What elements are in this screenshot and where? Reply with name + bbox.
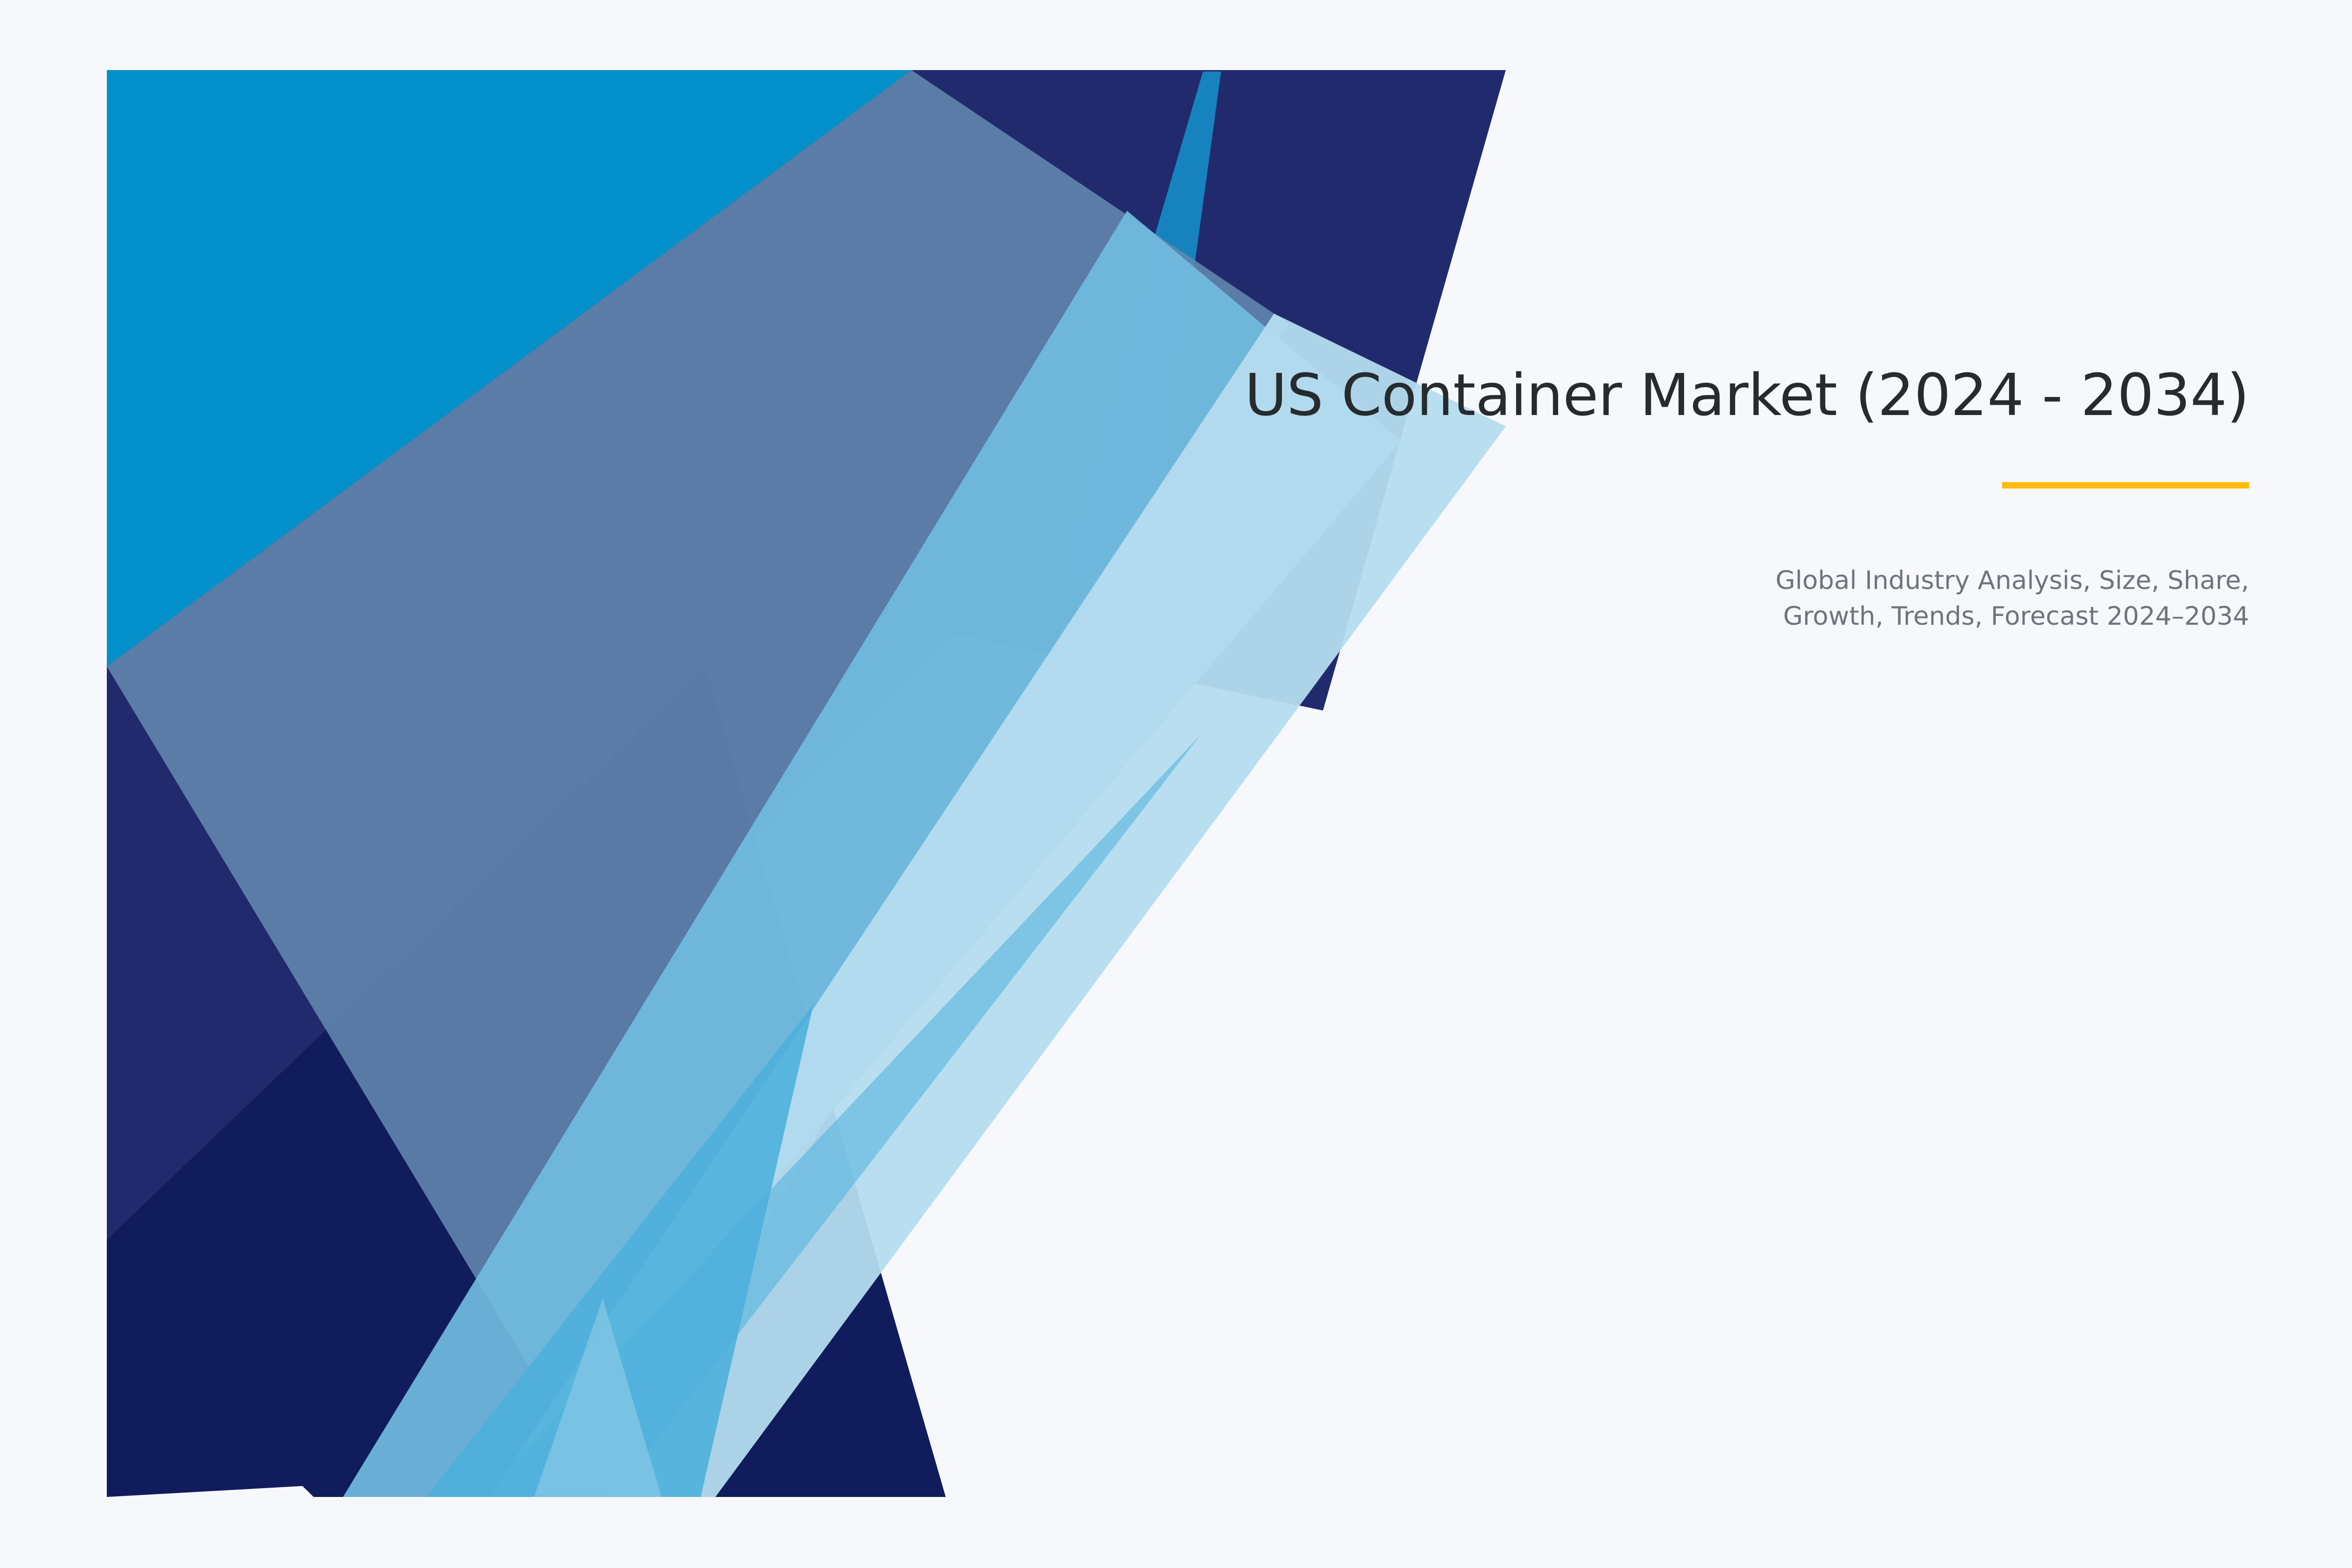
shape-cyan-field: [107, 70, 1506, 1497]
shape-navy-wedge: [107, 70, 1506, 1497]
shape-slate-overlay: [107, 70, 1289, 1497]
cover-text-block: US Container Market (2024 - 2034) Global…: [735, 363, 2249, 635]
shape-mid-sky-right-wedge: [480, 735, 1200, 1497]
accent-rule-wrapper: [735, 482, 2249, 489]
page-subtitle-line-1: Global Industry Analysis, Size, Share,: [1612, 563, 2249, 599]
shape-deep-navy-spike: [107, 666, 764, 1497]
page-subtitle: Global Industry Analysis, Size, Share, G…: [1612, 563, 2249, 635]
cover-page: US Container Market (2024 - 2034) Global…: [0, 0, 2352, 1568]
shape-deep-navy-body: [107, 666, 946, 1497]
shape-bottom-notch: [534, 1298, 661, 1497]
abstract-geometric-artwork: [0, 0, 2352, 1568]
shape-mid-sky-wedge: [426, 1004, 813, 1497]
accent-rule: [2002, 482, 2249, 489]
page-title: US Container Market (2024 - 2034): [735, 363, 2249, 427]
page-subtitle-line-2: Growth, Trends, Forecast 2024–2034: [1612, 599, 2249, 635]
